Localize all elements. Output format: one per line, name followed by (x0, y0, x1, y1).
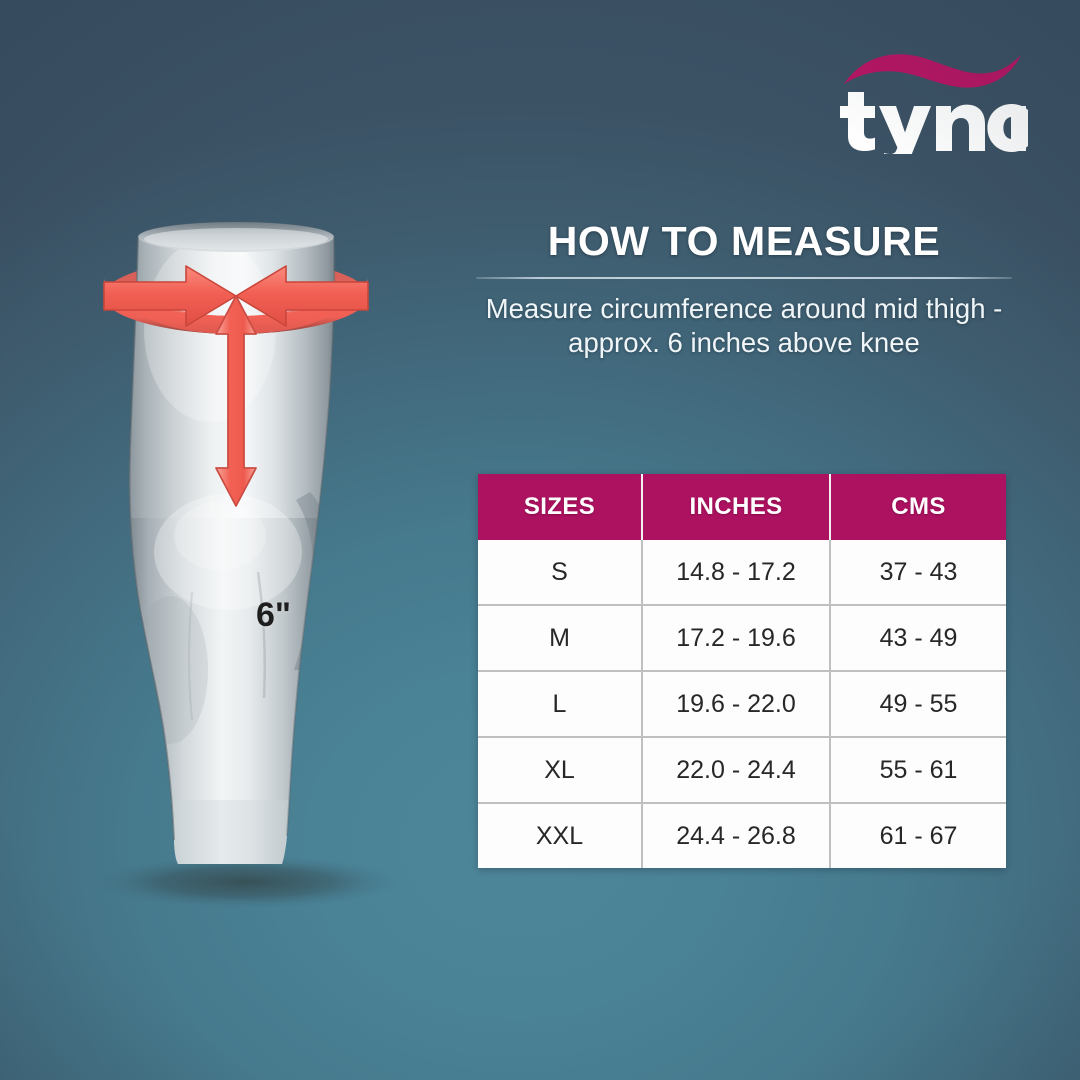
inches-cell: 22.0 - 24.4 (642, 737, 830, 803)
swoosh-icon (844, 54, 1021, 87)
size-cell: L (478, 671, 642, 737)
page-title: HOW TO MEASURE (476, 218, 1012, 265)
table-body: S14.8 - 17.237 - 43M17.2 - 19.643 - 49L1… (478, 540, 1006, 868)
leg-measurement-illustration: 6" (60, 200, 460, 960)
page-subtitle: Measure circumference around mid thigh -… (470, 292, 1018, 360)
table-row: XL22.0 - 24.455 - 61 (478, 737, 1006, 803)
column-header-cms: CMS (830, 474, 1006, 540)
size-cell: S (478, 540, 642, 605)
table-row: XXL24.4 - 26.861 - 67 (478, 803, 1006, 868)
title-divider (476, 277, 1012, 279)
size-cell: XXL (478, 803, 642, 868)
cms-cell: 55 - 61 (830, 737, 1006, 803)
cms-cell: 49 - 55 (830, 671, 1006, 737)
size-chart-table: SIZES INCHES CMS S14.8 - 17.237 - 43M17.… (478, 474, 1006, 868)
inches-cell: 14.8 - 17.2 (642, 540, 830, 605)
cms-cell: 43 - 49 (830, 605, 1006, 671)
size-cell: M (478, 605, 642, 671)
table-row: M17.2 - 19.643 - 49 (478, 605, 1006, 671)
cms-cell: 61 - 67 (830, 803, 1006, 868)
size-chart-canvas: 6" HOW TO MEASURE Measure circumference … (0, 0, 1080, 1080)
table-header-row: SIZES INCHES CMS (478, 474, 1006, 540)
column-header-sizes: SIZES (478, 474, 642, 540)
table-row: L19.6 - 22.049 - 55 (478, 671, 1006, 737)
inches-cell: 24.4 - 26.8 (642, 803, 830, 868)
cms-cell: 37 - 43 (830, 540, 1006, 605)
column-header-inches: INCHES (642, 474, 830, 540)
inches-cell: 17.2 - 19.6 (642, 605, 830, 671)
inches-cell: 19.6 - 22.0 (642, 671, 830, 737)
size-cell: XL (478, 737, 642, 803)
table-row: S14.8 - 17.237 - 43 (478, 540, 1006, 605)
tynor-logo[interactable] (838, 44, 1028, 154)
six-inch-label: 6" (256, 596, 291, 635)
